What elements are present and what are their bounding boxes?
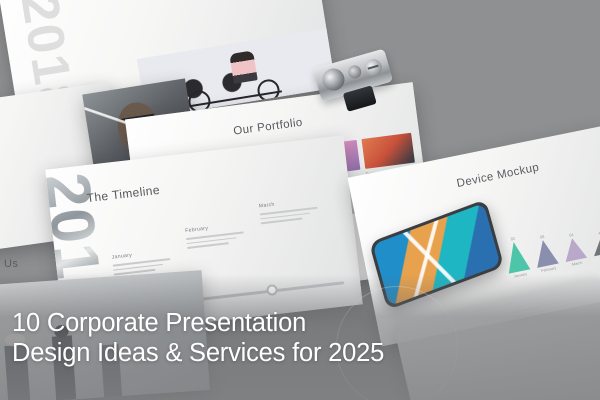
timeline-column: January: [111, 247, 176, 264]
chart-bar: 41 April: [589, 228, 600, 262]
achievements-body-lines: [0, 186, 2, 210]
portfolio-title: Our Portfolio: [233, 117, 304, 138]
headline-line-1: 10 Corporate Presentation: [12, 308, 592, 338]
cyclist-figure: [229, 50, 257, 83]
device-mockup-title: Device Mockup: [456, 162, 541, 190]
triangle-lavender-icon: [561, 236, 587, 262]
timeline-column: February: [185, 221, 250, 238]
triangle-gray-icon: [590, 234, 600, 256]
headline-line-2: Design Ideas & Services for 2025: [12, 338, 592, 368]
chart-bar: 54 March: [560, 230, 588, 268]
chart-category-label: February: [541, 266, 557, 273]
page-title: 10 Corporate Presentation Design Ideas &…: [12, 308, 592, 368]
chart-category-label: March: [572, 261, 583, 267]
timeline-body-lines: [260, 207, 319, 227]
triangle-slate-icon: [532, 238, 559, 268]
chart-bar: 68 February: [531, 232, 560, 274]
timeline-body-lines: [186, 231, 245, 251]
timeline-column: March: [259, 196, 324, 213]
triangle-teal-icon: [503, 240, 531, 274]
portfolio-thumbnail: [361, 133, 415, 169]
triangle-chart: 82 January 68 February 54 March 41 April: [502, 217, 600, 280]
chart-bar: 82 January: [502, 234, 532, 280]
composition-canvas: 2018 y Achiements 2018 Place Title Here …: [0, 0, 600, 400]
about-us-title: Us: [4, 258, 18, 270]
